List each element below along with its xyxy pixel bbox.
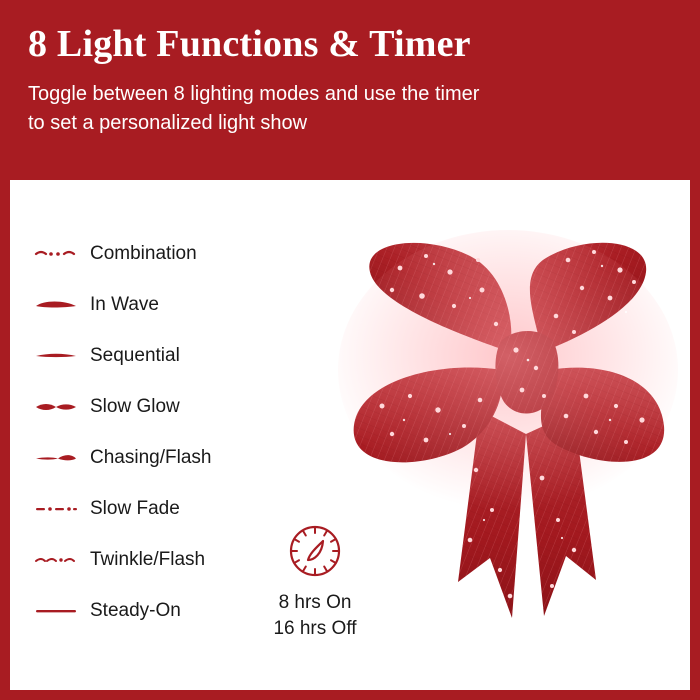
product-image bbox=[330, 220, 680, 640]
solid-line-icon bbox=[34, 601, 90, 621]
dash-dot-dot-wave-icon bbox=[34, 244, 90, 264]
list-item-label: Sequential bbox=[90, 345, 180, 367]
list-item-label: In Wave bbox=[90, 294, 159, 316]
header-subtitle-line-2: to set a personalized light show bbox=[28, 109, 672, 138]
header-banner: 8 Light Functions & Timer Toggle between… bbox=[0, 0, 700, 180]
header-subtitle: Toggle between 8 lighting modes and use … bbox=[28, 80, 672, 138]
list-item: Chasing/Flash bbox=[34, 432, 324, 483]
header-subtitle-line-1: Toggle between 8 lighting modes and use … bbox=[28, 80, 672, 109]
left-border-strip bbox=[0, 180, 10, 700]
double-lens-icon bbox=[34, 397, 90, 417]
list-item-label: Combination bbox=[90, 243, 197, 265]
dash-dot-dash-icon bbox=[34, 499, 90, 519]
list-item: In Wave bbox=[34, 279, 324, 330]
list-item-label: Twinkle/Flash bbox=[90, 549, 205, 571]
lens-taper-icon bbox=[34, 448, 90, 468]
list-item-label: Slow Fade bbox=[90, 498, 180, 520]
wave-dots-icon bbox=[34, 550, 90, 570]
list-item: Slow Glow bbox=[34, 381, 324, 432]
list-item-label: Steady-On bbox=[90, 600, 181, 622]
list-item: Combination bbox=[34, 228, 324, 279]
right-border-strip bbox=[690, 180, 700, 700]
long-taper-wave-icon bbox=[34, 295, 90, 315]
bottom-border-strip bbox=[0, 690, 700, 700]
list-item-label: Chasing/Flash bbox=[90, 447, 211, 469]
thin-line-icon bbox=[34, 346, 90, 366]
page-title: 8 Light Functions & Timer bbox=[28, 24, 672, 66]
promo-graphic: 8 Light Functions & Timer Toggle between… bbox=[0, 0, 700, 700]
list-item-label: Slow Glow bbox=[90, 396, 180, 418]
list-item: Sequential bbox=[34, 330, 324, 381]
